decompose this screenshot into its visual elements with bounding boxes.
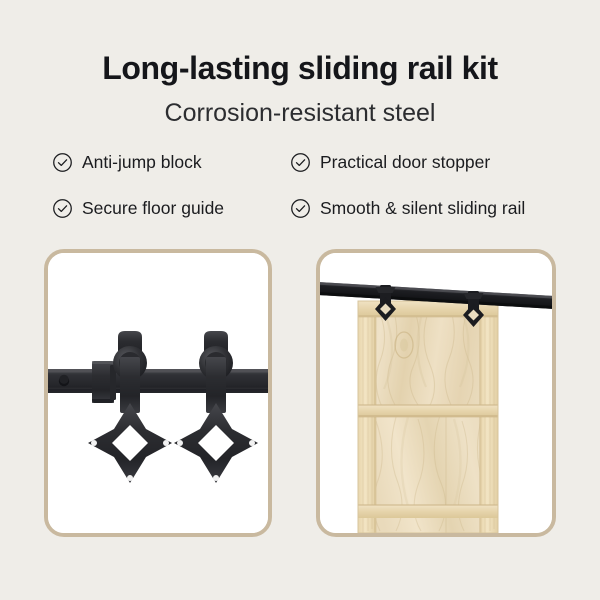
sliding-rail [48, 369, 268, 393]
feature-label: Practical door stopper [320, 151, 490, 173]
anti-jump-block [92, 361, 116, 403]
check-circle-icon [52, 198, 82, 219]
feature-item-secure-floor-guide: Secure floor guide [52, 195, 224, 221]
installed-door-image [320, 253, 552, 533]
feature-label: Anti-jump block [82, 151, 202, 173]
infographic-page: Long-lasting sliding rail kit Corrosion-… [0, 0, 600, 600]
feature-list: Anti-jump block Practical door stopper S… [52, 146, 560, 230]
product-photo-panel-installed-door [316, 249, 556, 537]
page-title: Long-lasting sliding rail kit [0, 48, 600, 88]
feature-label: Secure floor guide [82, 197, 224, 219]
check-circle-icon [52, 152, 82, 173]
feature-label: Smooth & silent sliding rail [320, 197, 525, 219]
feature-item-anti-jump-block: Anti-jump block [52, 149, 202, 175]
feature-item-smooth-silent-sliding-rail: Smooth & silent sliding rail [290, 195, 525, 221]
hardware-closeup-image [48, 253, 268, 533]
product-photo-panel-hardware [44, 249, 272, 537]
page-subtitle: Corrosion-resistant steel [0, 96, 600, 130]
feature-item-practical-door-stopper: Practical door stopper [290, 149, 490, 175]
check-circle-icon [290, 198, 320, 219]
barn-door [358, 301, 498, 533]
check-circle-icon [290, 152, 320, 173]
